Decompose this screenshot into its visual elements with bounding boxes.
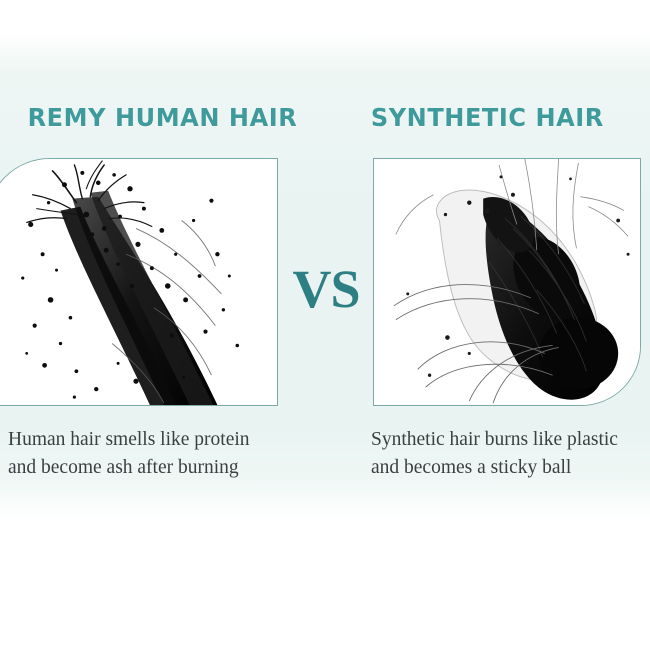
melted-synthetic-hair-image	[374, 159, 640, 405]
image-panel-synthetic-hair	[373, 158, 641, 406]
caption-cell-right: Synthetic hair burns like plastic and be…	[325, 426, 650, 488]
heading-cell-right: SYNTHETIC HAIR	[325, 96, 650, 138]
caption-remy-human-hair: Human hair smells like protein and becom…	[8, 426, 315, 481]
heading-synthetic-hair: SYNTHETIC HAIR	[371, 103, 604, 132]
caption-row: Human hair smells like protein and becom…	[0, 426, 650, 488]
vs-separator: VS	[283, 258, 369, 320]
heading-cell-left: REMY HUMAN HAIR	[0, 96, 325, 138]
heading-remy-human-hair: REMY HUMAN HAIR	[28, 103, 298, 132]
hair-comparison-infographic: REMY HUMAN HAIR SYNTHETIC HAIR	[0, 0, 650, 650]
burnt-human-hair-image	[0, 159, 277, 405]
image-panel-remy-human-hair	[0, 158, 278, 406]
heading-row: REMY HUMAN HAIR SYNTHETIC HAIR	[0, 96, 650, 138]
caption-cell-left: Human hair smells like protein and becom…	[0, 426, 325, 488]
caption-synthetic-hair: Synthetic hair burns like plastic and be…	[371, 426, 640, 481]
vs-label: VS	[292, 262, 359, 316]
